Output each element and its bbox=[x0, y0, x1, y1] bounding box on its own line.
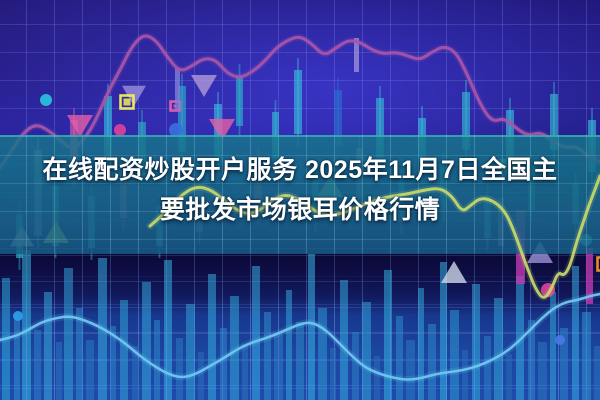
chart-artwork-overlay bbox=[0, 0, 600, 400]
stock-chart-banner: 在线配资炒股开户服务 2025年11月7日全国主 要批发市场银耳价格行情 bbox=[0, 0, 600, 400]
